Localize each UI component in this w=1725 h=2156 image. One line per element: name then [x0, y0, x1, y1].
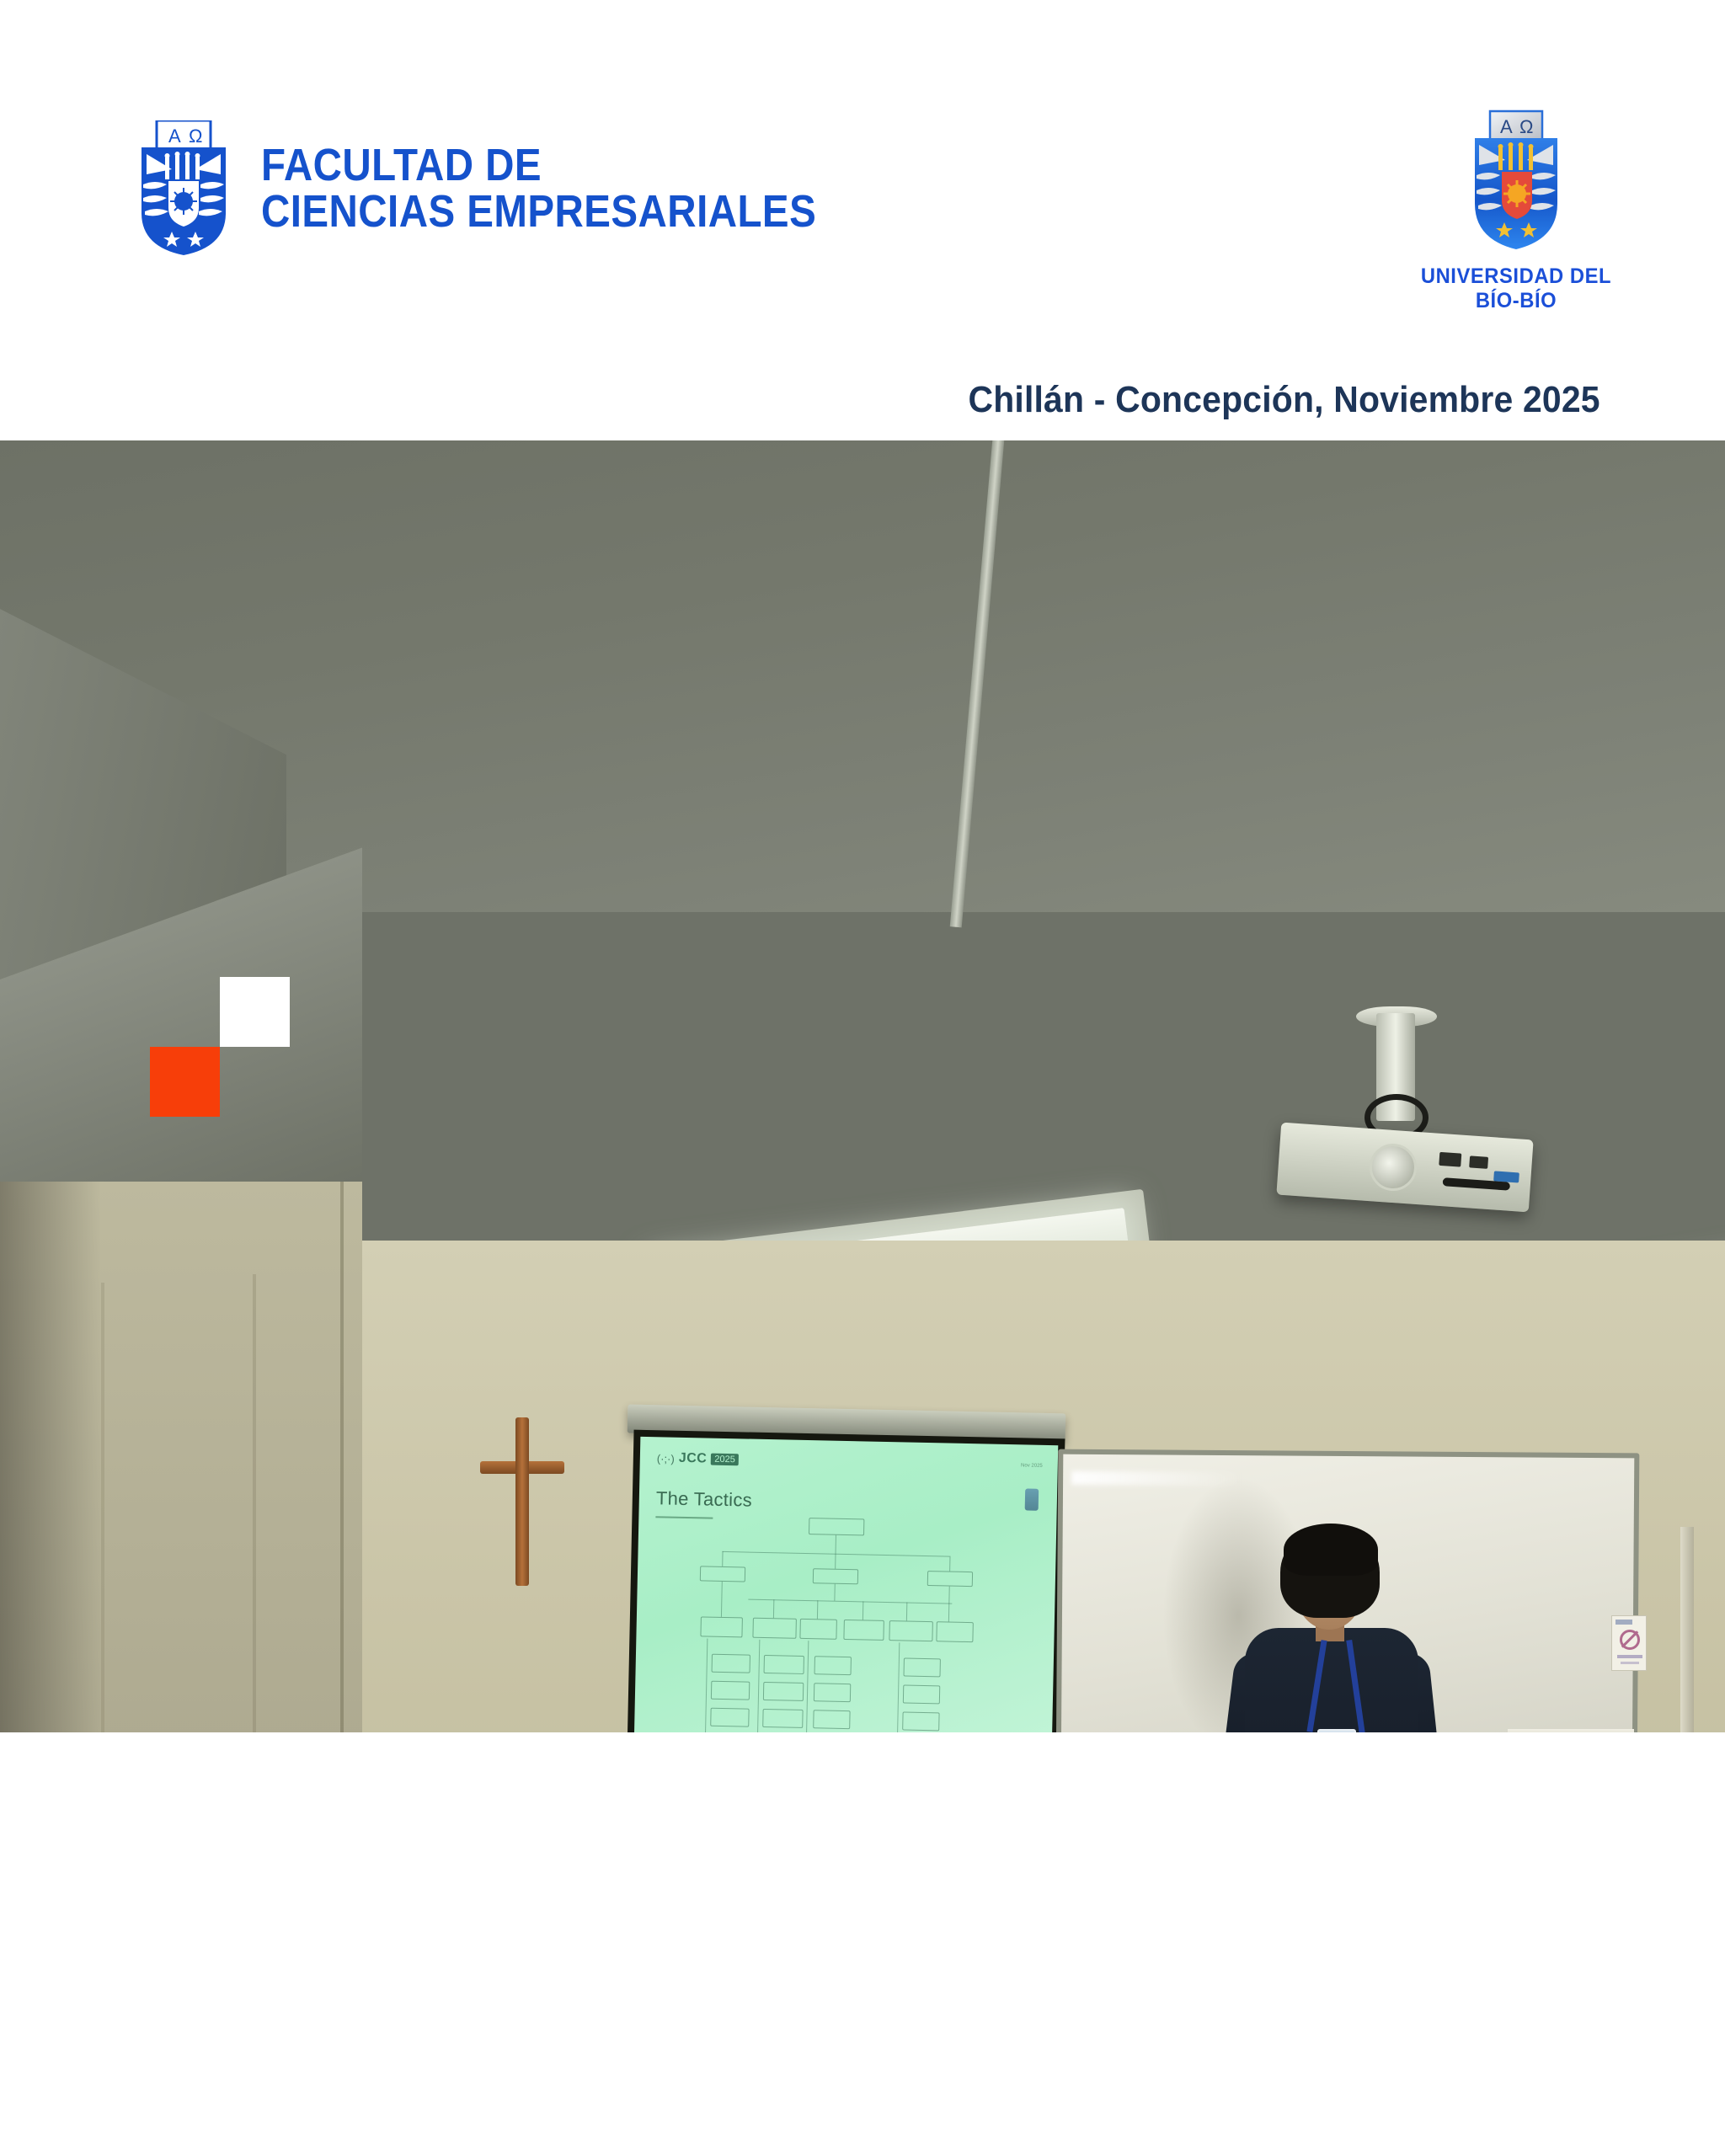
tree-leaf — [814, 1656, 852, 1675]
tree-leaf — [763, 1682, 804, 1701]
tree-node-l2 — [813, 1568, 858, 1584]
presenter-hair-top — [1284, 1524, 1378, 1576]
faculty-line-2: CIENCIAS EMPRESARIALES — [261, 189, 816, 235]
tree-leaf — [814, 1683, 851, 1702]
tree-link — [805, 1641, 809, 1732]
sign-header — [1616, 1620, 1632, 1625]
slide-brand-name: JCC — [679, 1451, 708, 1467]
svg-text:A: A — [1500, 116, 1513, 137]
ubb-shield-color-icon: A Ω — [1466, 109, 1566, 253]
door-frame — [1680, 1527, 1694, 1732]
tree-link — [949, 1556, 950, 1572]
projector-body — [1276, 1123, 1533, 1213]
tree-link — [722, 1551, 723, 1566]
deco-square-white — [220, 977, 290, 1047]
projector-port-2 — [1469, 1155, 1488, 1169]
conference-photo: (·;·) JCC 2025 Nov 2025 The Tactics — [0, 440, 1725, 1732]
tree-link — [906, 1603, 907, 1621]
poster-page: A Ω — [0, 0, 1725, 2156]
tree-link — [835, 1554, 836, 1569]
faculty-logo-text: FACULTAD DE CIENCIAS EMPRESARIALES — [261, 142, 892, 235]
event-date: Chillán - Concepción, Noviembre 2025 — [969, 379, 1600, 421]
slide-tree-diagram — [653, 1511, 1039, 1732]
projector-port-1 — [1439, 1152, 1461, 1167]
no-smoking-sign — [1611, 1615, 1647, 1671]
tree-link — [862, 1601, 863, 1620]
projected-slide: (·;·) JCC 2025 Nov 2025 The Tactics — [633, 1437, 1059, 1732]
sign-text-bar-2 — [1621, 1662, 1639, 1664]
poster-footer: face.ubiobio.cl — [0, 1732, 1725, 2156]
tree-leaf — [762, 1709, 803, 1728]
tree-link — [756, 1640, 761, 1732]
wall-seam-3 — [101, 1283, 104, 1732]
crucifix-icon — [480, 1417, 564, 1586]
ceiling-projector-icon — [1255, 1013, 1541, 1232]
tree-node-l2c — [799, 1619, 836, 1640]
ubb-shield-icon: A Ω — [135, 120, 232, 257]
tree-leaf — [813, 1710, 850, 1729]
tree-leaf — [903, 1657, 940, 1677]
tree-link — [748, 1599, 952, 1604]
university-name: UNIVERSIDAD DEL BÍO-BÍO — [1400, 264, 1632, 313]
projection-screen: (·;·) JCC 2025 Nov 2025 The Tactics — [627, 1430, 1065, 1732]
tree-link — [817, 1600, 818, 1619]
tree-leaf — [902, 1711, 939, 1731]
tree-link — [773, 1599, 774, 1618]
slide-content: (·;·) JCC 2025 Nov 2025 The Tactics — [633, 1437, 1059, 1732]
sign-text-bar-1 — [1617, 1655, 1642, 1658]
svg-text:Ω: Ω — [1519, 116, 1533, 137]
tree-node-root — [809, 1518, 864, 1535]
tree-leaf — [711, 1681, 750, 1700]
tree-link — [836, 1535, 836, 1554]
tree-node-l2a — [700, 1616, 742, 1637]
poster-header: A Ω — [0, 0, 1725, 440]
tree-link — [896, 1642, 900, 1732]
tree-node-l2f — [936, 1621, 973, 1642]
svg-text:A: A — [168, 125, 181, 147]
crucifix-vertical — [515, 1417, 529, 1586]
tree-link — [721, 1582, 723, 1617]
tree-link — [834, 1584, 835, 1601]
left-wall-shadow — [0, 1182, 101, 1732]
university-logo: A Ω — [1394, 109, 1638, 313]
svg-text:Ω: Ω — [189, 125, 202, 147]
tree-leaf — [710, 1708, 749, 1727]
slide-brand: (·;·) JCC 2025 — [657, 1450, 1041, 1474]
tree-node-l2d — [843, 1620, 884, 1641]
tree-link — [705, 1639, 708, 1732]
tree-leaf — [764, 1655, 804, 1674]
slide-brand-mark: (·;·) — [657, 1452, 675, 1465]
presenter-torso — [1245, 1628, 1418, 1732]
faculty-logo: A Ω — [135, 120, 892, 257]
tree-node-l2e — [889, 1620, 932, 1641]
tree-leaf — [903, 1684, 940, 1704]
deco-square-orange — [150, 1047, 220, 1117]
projector-lens — [1368, 1142, 1418, 1193]
tree-node-l1 — [700, 1566, 745, 1582]
wall-seam-1 — [340, 1182, 344, 1732]
tree-leaf — [712, 1654, 750, 1673]
slide-corner-note: Nov 2025 — [1021, 1463, 1043, 1469]
tree-node-l2b — [752, 1618, 796, 1639]
faculty-line-1: FACULTAD DE — [261, 142, 816, 189]
wall-seam-2 — [253, 1274, 256, 1732]
tree-node-l3 — [927, 1571, 973, 1587]
slide-brand-year: 2025 — [711, 1454, 739, 1466]
